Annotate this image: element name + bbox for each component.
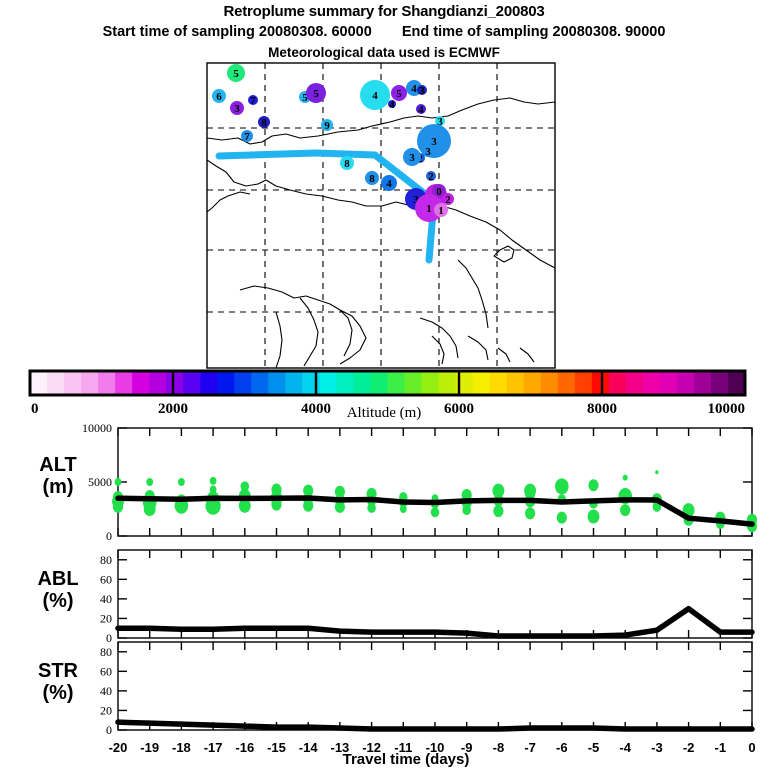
x-tick-label: 0 xyxy=(748,740,755,755)
scatter-point xyxy=(113,501,123,513)
y-tick-label: 0 xyxy=(106,723,112,737)
map-marker-label: 3 xyxy=(425,146,431,158)
scatter-point xyxy=(588,510,600,524)
panel-abl: 020406080ABL(%) xyxy=(37,550,752,645)
x-tick-label: -4 xyxy=(619,740,631,755)
y-tick-label: 0 xyxy=(106,631,112,645)
map-marker-label: 8 xyxy=(261,117,267,129)
map-marker-label: 4 xyxy=(386,178,392,190)
scatter-point xyxy=(493,505,503,517)
colorbar-swatch xyxy=(183,371,201,395)
panel-frame xyxy=(118,550,752,638)
panel-label-name: ALT xyxy=(39,454,76,476)
scatter-point xyxy=(588,479,598,491)
y-tick-label: 20 xyxy=(100,703,112,717)
map-marker: 6 xyxy=(212,89,226,103)
map-marker-label: 9 xyxy=(324,120,330,132)
end-time-label: End time of sampling 20080308. 90000 xyxy=(402,24,666,40)
map-marker-label: 0 xyxy=(436,186,442,198)
map-marker-label: 1 xyxy=(438,205,444,217)
y-tick-label: 5000 xyxy=(88,475,112,489)
scatter-point xyxy=(400,505,407,513)
colorbar-swatch xyxy=(319,371,337,395)
colorbar-tick: 6000 xyxy=(444,401,474,417)
scatter-point xyxy=(620,504,630,516)
colorbar-swatch xyxy=(268,371,286,395)
colorbar-swatch xyxy=(200,371,218,395)
colorbar-swatch xyxy=(302,371,320,395)
panel-label-name: ABL xyxy=(37,568,78,590)
map-marker: 5 xyxy=(227,64,245,82)
scatter-point xyxy=(557,512,567,524)
colorbar-swatch xyxy=(115,371,133,395)
colorbar-swatch xyxy=(609,371,627,395)
panel-alt: 0500010000ALT(m) xyxy=(39,421,757,543)
map-marker: 8 xyxy=(365,171,379,185)
y-tick-label: 20 xyxy=(100,611,112,625)
x-tick-label: -6 xyxy=(556,740,568,755)
colorbar-swatch xyxy=(558,371,576,395)
map-marker: 3 xyxy=(403,148,421,166)
colorbar-swatch xyxy=(626,371,644,395)
colorbar-swatch xyxy=(677,371,695,395)
map-marker-label: 4 xyxy=(389,99,395,111)
map-marker-label: 8 xyxy=(369,173,375,185)
scatter-point xyxy=(525,507,535,519)
x-tick-label: -3 xyxy=(651,740,663,755)
x-tick-label: -17 xyxy=(204,740,223,755)
colorbar-swatch xyxy=(81,371,99,395)
y-tick-label: 0 xyxy=(106,529,112,543)
map-marker-label: 3 xyxy=(409,152,415,164)
scatter-point xyxy=(555,478,569,494)
y-tick-label: 40 xyxy=(100,684,112,698)
map-marker: 4 xyxy=(381,175,397,191)
map-marker-label: 5 xyxy=(233,68,239,80)
colorbar-swatch xyxy=(98,371,116,395)
x-tick-label: -5 xyxy=(588,740,600,755)
scatter-point xyxy=(462,505,471,515)
map-marker-label: 3 xyxy=(431,136,437,148)
map-marker: 5 xyxy=(306,83,326,103)
x-tick-label: -16 xyxy=(235,740,254,755)
x-tick-label: -19 xyxy=(140,740,159,755)
x-axis-label: Travel time (days) xyxy=(343,751,470,768)
sampling-times: Start time of sampling 20080308. 60000 E… xyxy=(0,24,768,40)
colorbar-swatch xyxy=(370,371,388,395)
panel-str: 020406080-20-19-18-17-16-15-14-13-12-11-… xyxy=(38,642,756,755)
colorbar-swatch xyxy=(643,371,661,395)
colorbar-swatch xyxy=(132,371,150,395)
y-tick-label: 60 xyxy=(100,572,112,586)
colorbar-swatch xyxy=(422,371,440,395)
colorbar-swatch xyxy=(405,371,423,395)
colorbar-swatch xyxy=(439,371,457,395)
map-marker-label: 3 xyxy=(234,103,240,115)
colorbar-swatch xyxy=(507,371,525,395)
scatter-point xyxy=(146,478,153,486)
scatter-point xyxy=(115,478,122,486)
scatter-point xyxy=(431,507,440,517)
colorbar-swatch xyxy=(64,371,82,395)
colorbar-tick: 4000 xyxy=(301,401,331,417)
colorbar-swatches xyxy=(30,371,746,395)
colorbar-tick: 0 xyxy=(31,401,39,417)
colorbar-tick: 8000 xyxy=(587,401,617,417)
scatter-point xyxy=(367,503,376,513)
map-marker-label: 7 xyxy=(244,131,250,143)
colorbar-swatch xyxy=(473,371,491,395)
trajectory-map[interactable]: 567554544343879333238842310211 xyxy=(0,60,768,372)
map-marker-label: 4 xyxy=(418,104,424,116)
y-tick-label: 10000 xyxy=(82,421,112,435)
x-tick-label: -1 xyxy=(715,740,727,755)
colorbar-swatch xyxy=(694,371,712,395)
colorbar-swatch xyxy=(592,371,610,395)
scatter-point xyxy=(623,475,628,481)
colorbar-swatch xyxy=(660,371,678,395)
colorbar-swatch xyxy=(524,371,542,395)
scatter-point xyxy=(144,502,156,516)
scatter-point xyxy=(210,477,217,485)
x-tick-label: -8 xyxy=(493,740,505,755)
y-tick-label: 80 xyxy=(100,645,112,659)
colorbar-swatch xyxy=(217,371,235,395)
map-marker: 8 xyxy=(340,156,354,170)
map-marker-label: 6 xyxy=(216,91,222,103)
panel-label-unit: (%) xyxy=(42,590,73,612)
colorbar-swatch xyxy=(166,371,184,395)
x-tick-label: -15 xyxy=(267,740,286,755)
x-tick-label: -2 xyxy=(683,740,695,755)
colorbar-swatch xyxy=(336,371,354,395)
y-tick-label: 80 xyxy=(100,553,112,567)
colorbar-swatch xyxy=(575,371,593,395)
colorbar-swatch xyxy=(711,371,729,395)
colorbar-swatch xyxy=(234,371,252,395)
colorbar-swatch xyxy=(490,371,508,395)
colorbar-swatch xyxy=(30,371,48,395)
panel-label-name: STR xyxy=(38,660,79,682)
map-marker-label: 7 xyxy=(250,95,256,107)
colorbar-swatch xyxy=(149,371,167,395)
colorbar-swatch xyxy=(541,371,559,395)
colorbar-title: Altitude (m) xyxy=(347,405,422,421)
y-tick-label: 40 xyxy=(100,592,112,606)
scatter-point xyxy=(335,501,345,513)
met-data-label: Meteorological data used is ECMWF xyxy=(0,45,768,60)
x-tick-label: -20 xyxy=(109,740,128,755)
timeseries-panels: 0500010000ALT(m)020406080ABL(%)020406080… xyxy=(0,420,768,768)
colorbar-swatch xyxy=(47,371,65,395)
map-marker-label: 4 xyxy=(372,90,378,102)
scatter-point xyxy=(303,500,313,512)
scatter-point xyxy=(655,470,658,474)
map-marker: 4 xyxy=(360,80,390,110)
colorbar-swatch xyxy=(251,371,269,395)
map-marker-label: 2 xyxy=(428,171,434,183)
colorbar-swatch xyxy=(388,371,406,395)
altitude-colorbar: 0200040006000800010000 Altitude (m) xyxy=(0,366,768,422)
panel-label-unit: (m) xyxy=(42,476,73,498)
colorbar-tick: 2000 xyxy=(158,401,188,417)
x-tick-label: -18 xyxy=(172,740,191,755)
panel-label-unit: (%) xyxy=(42,682,73,704)
x-tick-label: -14 xyxy=(299,740,319,755)
map-marker: 1 xyxy=(434,203,448,217)
map-marker-label: 1 xyxy=(426,203,432,215)
map-marker-label: 5 xyxy=(313,88,319,100)
map-marker-label: 4 xyxy=(411,83,417,95)
page-title: Retroplume summary for Shangdianzi_20080… xyxy=(0,3,768,20)
start-time-label: Start time of sampling 20080308. 60000 xyxy=(103,24,372,40)
x-tick-label: -7 xyxy=(524,740,536,755)
map-marker: 3 xyxy=(230,101,244,115)
colorbar-tick: 10000 xyxy=(708,401,746,417)
map-marker-label: 5 xyxy=(396,88,402,100)
colorbar-swatch xyxy=(728,371,746,395)
colorbar-swatch xyxy=(353,371,371,395)
scatter-point xyxy=(178,478,185,486)
panel-frame xyxy=(118,642,752,730)
map-marker-label: 3 xyxy=(419,85,425,97)
colorbar-swatch xyxy=(285,371,303,395)
y-tick-label: 60 xyxy=(100,664,112,678)
map-marker-label: 8 xyxy=(344,158,350,170)
map-marker-label: 2 xyxy=(445,194,451,206)
